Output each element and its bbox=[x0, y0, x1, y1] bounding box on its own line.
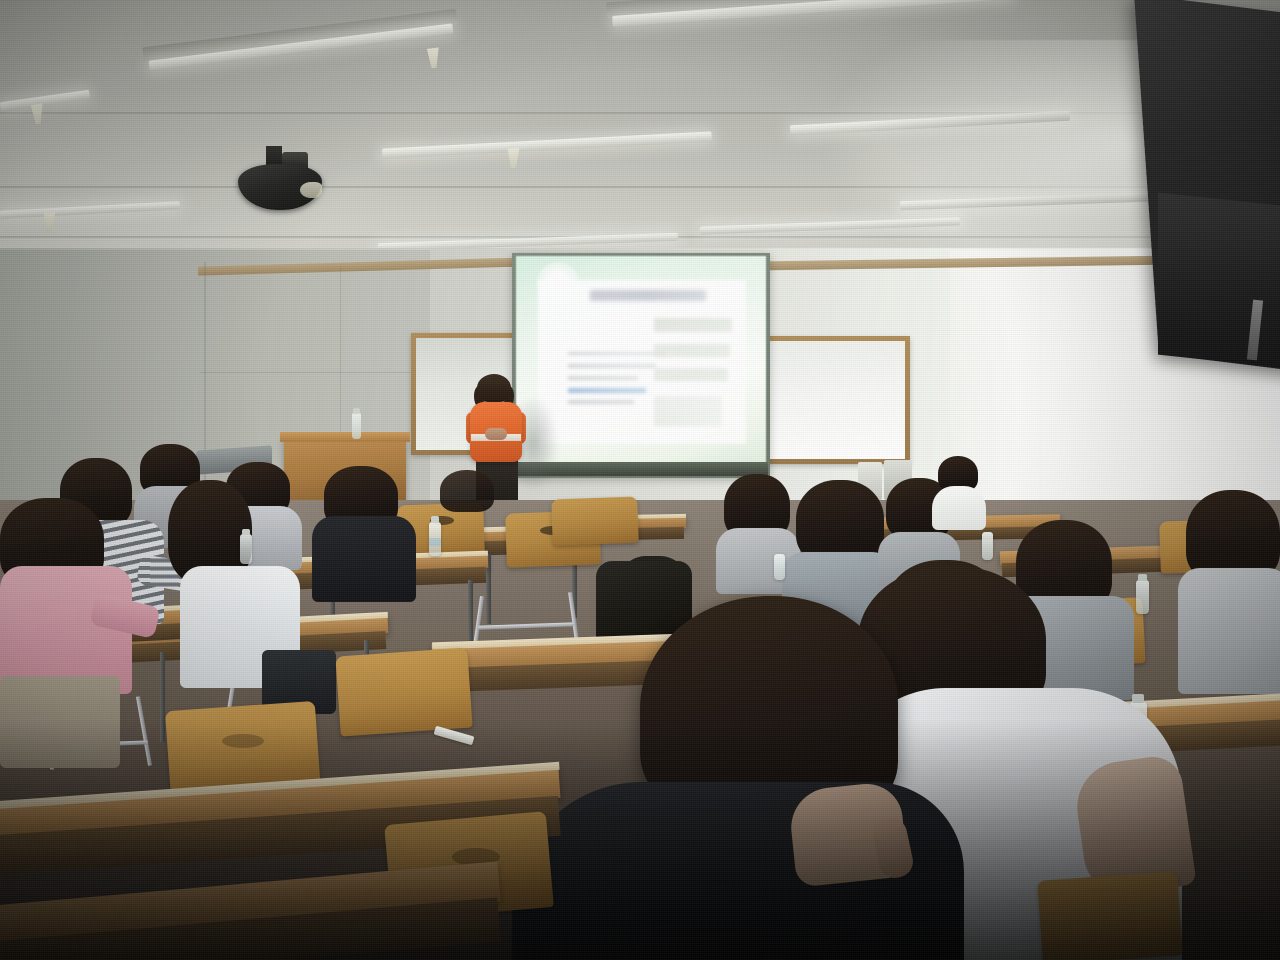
presenter-hands bbox=[485, 428, 507, 440]
bottle-cap bbox=[1138, 574, 1147, 581]
bottle-cap bbox=[431, 516, 439, 523]
presenter-shadow bbox=[516, 396, 558, 492]
chair-mid-3 bbox=[551, 497, 639, 546]
student-mid-back-hair bbox=[440, 470, 494, 512]
floor-shadow-overlay bbox=[0, 720, 1280, 960]
water-bottle-desk-4 bbox=[1136, 580, 1149, 614]
ceiling-seam bbox=[0, 112, 1280, 114]
student-right-e-torso bbox=[1178, 568, 1280, 694]
projector-lens-icon bbox=[300, 182, 322, 198]
water-bottle-desk-3 bbox=[982, 532, 993, 560]
classroom-photo bbox=[0, 0, 1280, 960]
water-bottle-desk-6 bbox=[774, 554, 785, 580]
wall-display-lower-panel bbox=[1158, 193, 1280, 370]
bottle-cap bbox=[1132, 694, 1144, 703]
wall-panel-seam bbox=[200, 372, 410, 373]
student-left-pink-torso bbox=[0, 566, 132, 694]
presenter-hair bbox=[477, 374, 511, 402]
whiteboard-surface bbox=[770, 341, 905, 459]
student-mid-dark-torso bbox=[312, 516, 416, 602]
wall-panel-seam bbox=[1040, 262, 1041, 502]
water-bottle-desk-2 bbox=[240, 534, 252, 564]
bottle-cap bbox=[353, 408, 360, 414]
projector-lamp-glare bbox=[536, 262, 580, 304]
wall-panel-seam bbox=[930, 410, 1280, 411]
bottle-label bbox=[429, 538, 441, 546]
student-right-far-torso bbox=[932, 486, 986, 530]
wall-panel-seam bbox=[930, 262, 931, 502]
whiteboard-right bbox=[765, 336, 910, 464]
water-bottle-on-lectern bbox=[352, 413, 361, 439]
ceiling-seam bbox=[0, 186, 1280, 188]
lectern-top bbox=[280, 432, 410, 442]
bottle-cap bbox=[242, 529, 250, 535]
